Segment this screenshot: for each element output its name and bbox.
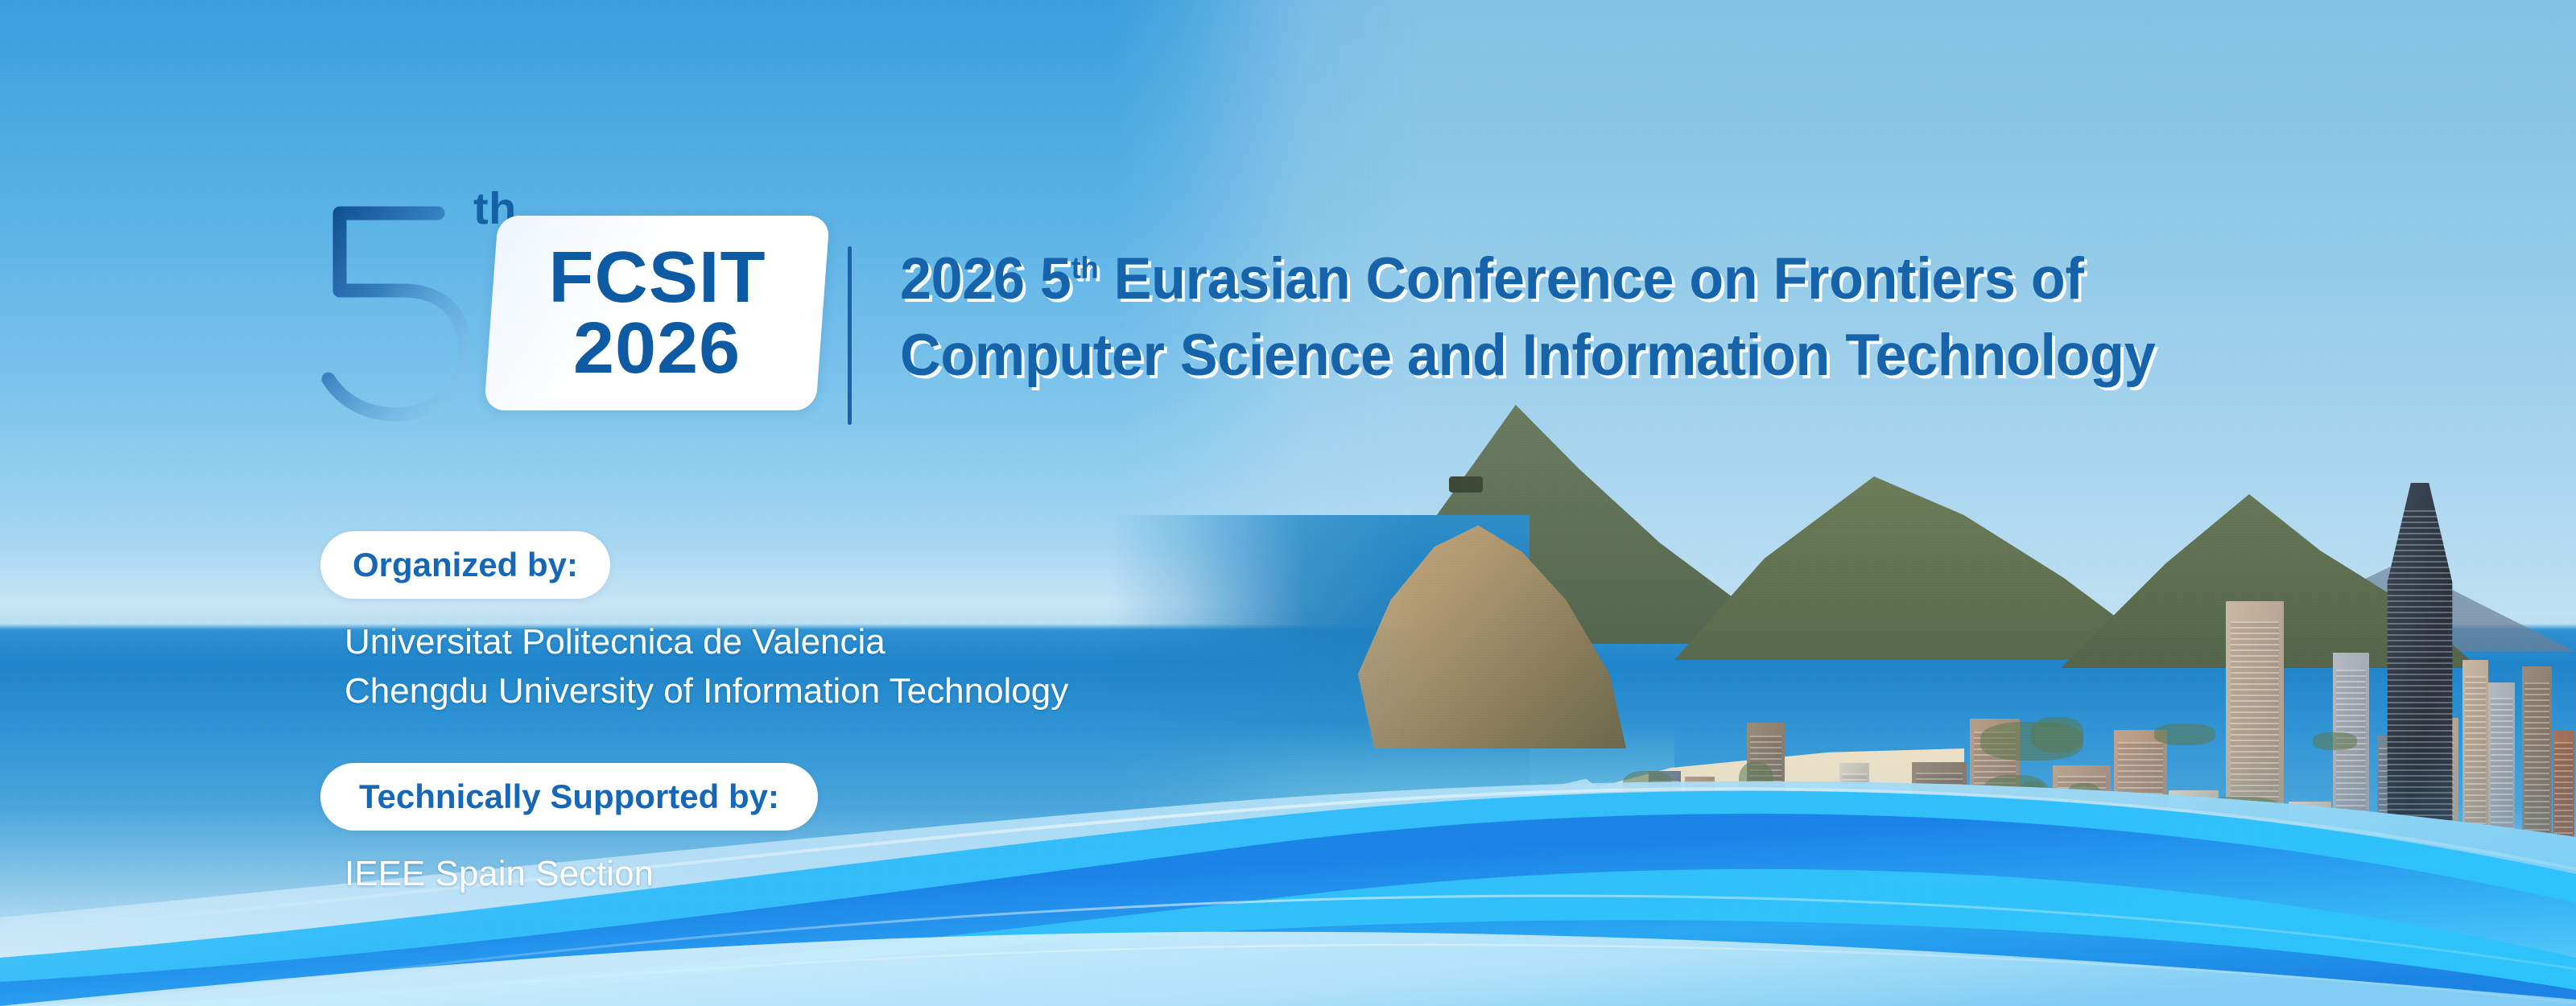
building xyxy=(2522,666,2552,934)
organizer-item: Universitat Politecnica de Valencia xyxy=(345,618,1068,667)
building xyxy=(2226,601,2284,934)
building xyxy=(1562,815,1602,934)
organizer-list: Universitat Politecnica de Valencia Chen… xyxy=(345,618,1068,715)
organized-by-badge: Organized by: xyxy=(320,531,610,599)
vegetation-patch xyxy=(2313,732,2357,750)
logo-year: 2026 xyxy=(573,314,741,383)
conference-banner: th FCSIT 2026 2026 5th Eurasian Conferen… xyxy=(0,0,2576,1006)
conference-logo: th FCSIT 2026 xyxy=(316,175,863,433)
vegetation-patch xyxy=(1623,771,1672,800)
wave-highlight-3 xyxy=(242,945,2576,1006)
vegetation-patch xyxy=(2154,724,2215,745)
wave-band-light xyxy=(0,932,2576,1006)
vegetation-patch xyxy=(2079,884,2157,932)
supporter-item: IEEE Spain Section xyxy=(345,850,654,899)
organizer-item: Chengdu University of Information Techno… xyxy=(345,667,1068,716)
title-line1-prefix: 2026 5 xyxy=(900,246,1071,311)
building xyxy=(1876,789,1910,934)
building xyxy=(1719,855,1746,934)
logo-acronym: FCSIT xyxy=(548,243,766,312)
building xyxy=(2462,660,2488,934)
technically-supported-by-badge: Technically Supported by: xyxy=(320,763,818,831)
conference-title: 2026 5th Eurasian Conference on Frontier… xyxy=(900,241,2478,394)
vegetation-patch xyxy=(2034,833,2124,884)
title-ordinal: th xyxy=(1071,252,1099,286)
vegetation-patch xyxy=(1739,762,1773,802)
vegetation-patch xyxy=(2190,797,2289,839)
building xyxy=(2553,730,2574,934)
supporter-list: IEEE Spain Section xyxy=(345,850,654,899)
vegetation-patch xyxy=(2063,783,2104,834)
building xyxy=(2488,682,2515,934)
title-line1-rest: Eurasian Conference on Frontiers of xyxy=(1098,246,2083,311)
title-line-1: 2026 5th Eurasian Conference on Frontier… xyxy=(900,241,2415,318)
logo-wordmark: FCSIT 2026 xyxy=(491,216,823,410)
building xyxy=(1685,777,1715,934)
landmark-tower xyxy=(2375,483,2465,934)
vegetation-patch xyxy=(1980,722,2083,761)
city-skyline xyxy=(1562,451,2576,934)
coastline-photo xyxy=(1111,0,2576,934)
vegetation-patch xyxy=(1979,775,2051,827)
vegetation-patch xyxy=(1635,864,1673,884)
building xyxy=(1839,763,1869,934)
vertical-divider xyxy=(848,246,852,425)
building xyxy=(2333,653,2369,934)
building xyxy=(1790,813,1836,934)
headland-lookout xyxy=(1449,476,1483,493)
building xyxy=(2289,802,2331,934)
building xyxy=(1912,762,1967,934)
title-line-2: Computer Science and Information Technol… xyxy=(900,318,2415,394)
building xyxy=(1747,723,1785,934)
